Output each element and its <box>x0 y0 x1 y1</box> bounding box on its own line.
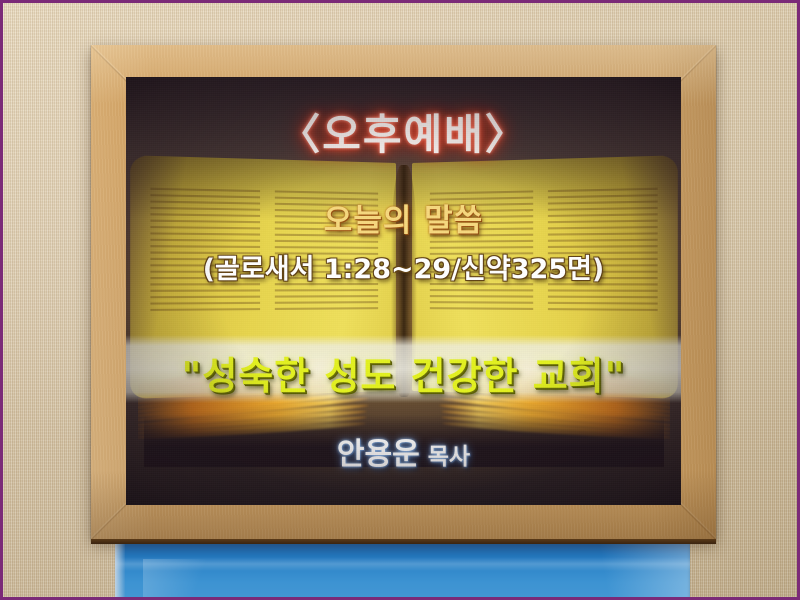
sermon-title: "성숙한 성도 건강한 교회" <box>126 345 681 400</box>
scripture-reference: (골로새서 1:28~29/신약325면) <box>126 247 681 286</box>
todays-word-label: 오늘의 말씀 <box>126 195 681 240</box>
frame-bottom-shadow <box>91 539 716 544</box>
preacher-role: 목사 <box>428 444 470 470</box>
banner-left-edge <box>115 535 125 600</box>
projection-screen: 〈오후예배〉 오늘의 말씀 (골로새서 1:28~29/신약325면) "성숙한… <box>126 77 681 505</box>
slide-text-layer: 〈오후예배〉 오늘의 말씀 (골로새서 1:28~29/신약325면) "성숙한… <box>126 77 681 505</box>
worship-service-title: 〈오후예배〉 <box>126 101 681 162</box>
photograph: 〈오후예배〉 오늘의 말씀 (골로새서 1:28~29/신약325면) "성숙한… <box>0 0 800 600</box>
preacher-line: 안용운목사 <box>126 429 681 473</box>
preacher-name: 안용운 <box>337 437 420 472</box>
banner-fold-left <box>143 559 213 600</box>
wooden-frame: 〈오후예배〉 오늘의 말씀 (골로새서 1:28~29/신약325면) "성숙한… <box>91 45 716 539</box>
blue-banner <box>115 535 690 600</box>
banner-fold-right <box>570 541 690 600</box>
